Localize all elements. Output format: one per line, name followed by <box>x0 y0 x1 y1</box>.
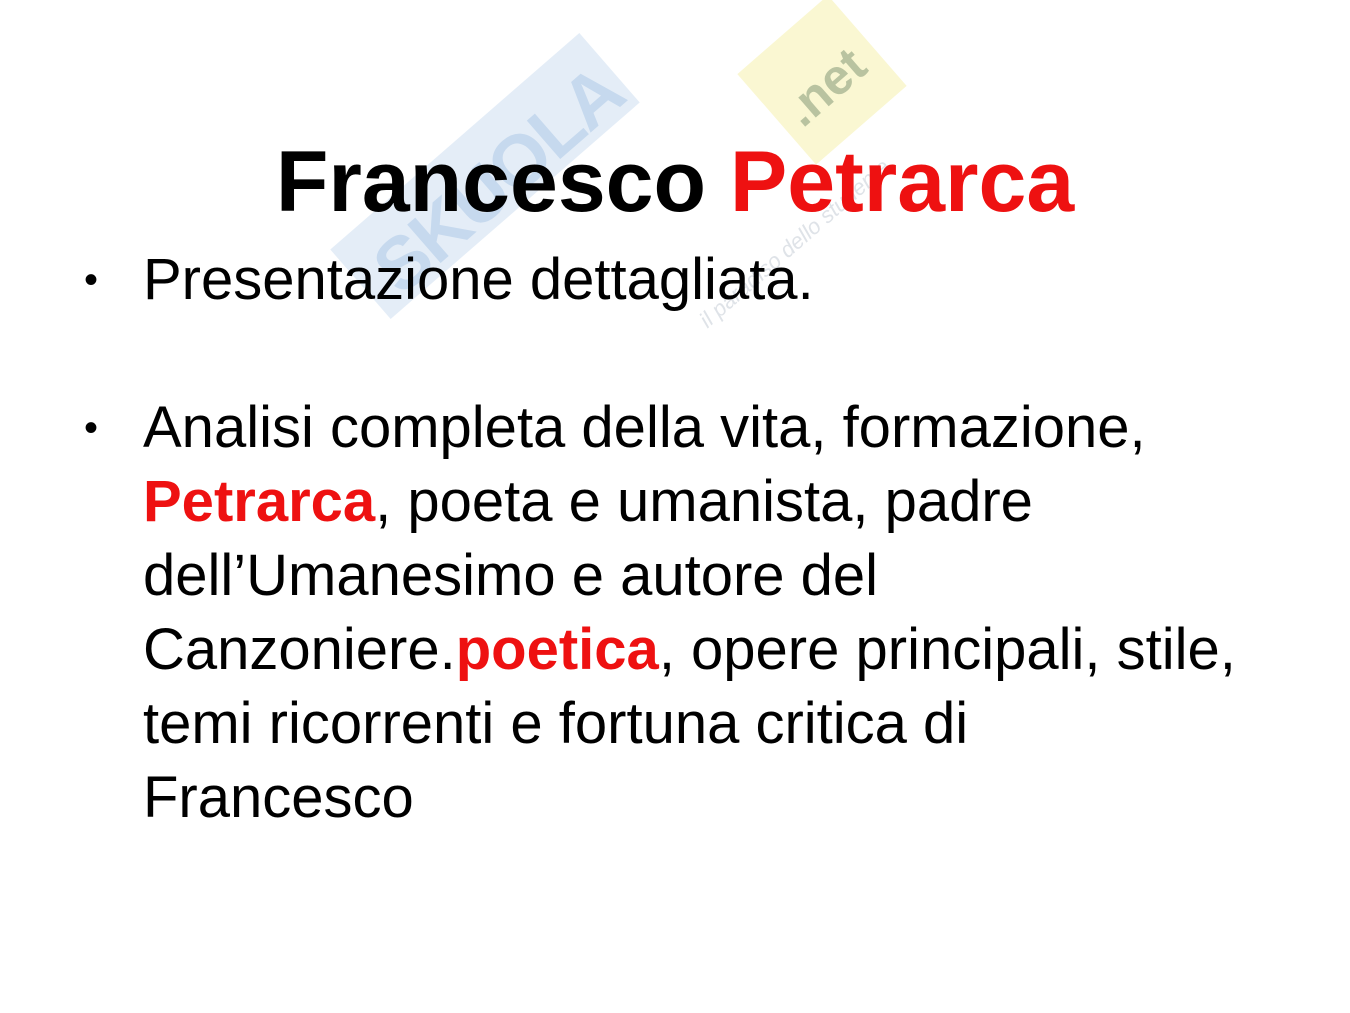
slide-body: • Presentazione dettagliata. • Analisi c… <box>72 243 1252 835</box>
bullet-text-1: Presentazione dettagliata. <box>143 243 1252 317</box>
bullet-marker-icon: • <box>72 391 143 465</box>
bullet-2-segment-4-accent: poetica <box>456 617 659 682</box>
slide-title: Francesco Petrarca <box>0 132 1350 232</box>
slide-title-accent: Petrarca <box>730 134 1074 230</box>
bullet-text-2: Analisi completa della vita, formazione,… <box>143 391 1252 835</box>
watermark-domain-text: .net <box>770 20 895 140</box>
bullet-2-segment-1: Analisi completa della vita, formazione, <box>143 395 1146 460</box>
bullet-item-1: • Presentazione dettagliata. <box>72 243 1252 317</box>
bullet-item-2: • Analisi completa della vita, formazion… <box>72 391 1252 835</box>
presentation-slide: SKUOLA .net il paradiso dello studente F… <box>0 0 1350 1013</box>
bullet-spacer <box>72 317 1252 391</box>
bullet-1-segment-1: Presentazione dettagliata. <box>143 247 814 312</box>
slide-title-plain: Francesco <box>276 134 730 230</box>
bullet-2-segment-2-accent: Petrarca <box>143 469 375 534</box>
bullet-marker-icon: • <box>72 243 143 317</box>
